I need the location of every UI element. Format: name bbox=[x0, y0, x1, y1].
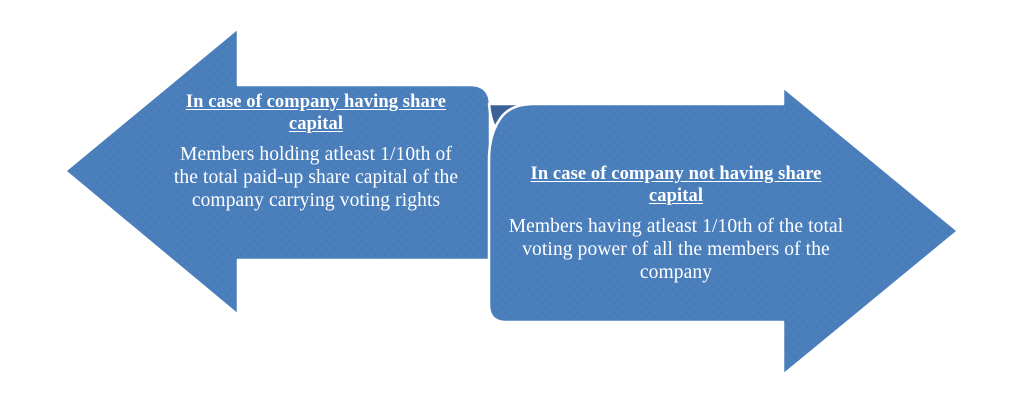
right-panel-text: In case of company not having share capi… bbox=[508, 164, 844, 285]
left-panel-heading: In case of company having share capital bbox=[170, 92, 462, 135]
diagram-canvas: In case of company having share capital … bbox=[0, 0, 1024, 409]
right-panel-body: Members having atleast 1/10th of the tot… bbox=[508, 216, 844, 284]
left-panel-body: Members holding atleast 1/10th of the to… bbox=[170, 144, 462, 212]
right-panel-heading: In case of company not having share capi… bbox=[508, 164, 844, 207]
left-panel-text: In case of company having share capital … bbox=[170, 92, 462, 213]
